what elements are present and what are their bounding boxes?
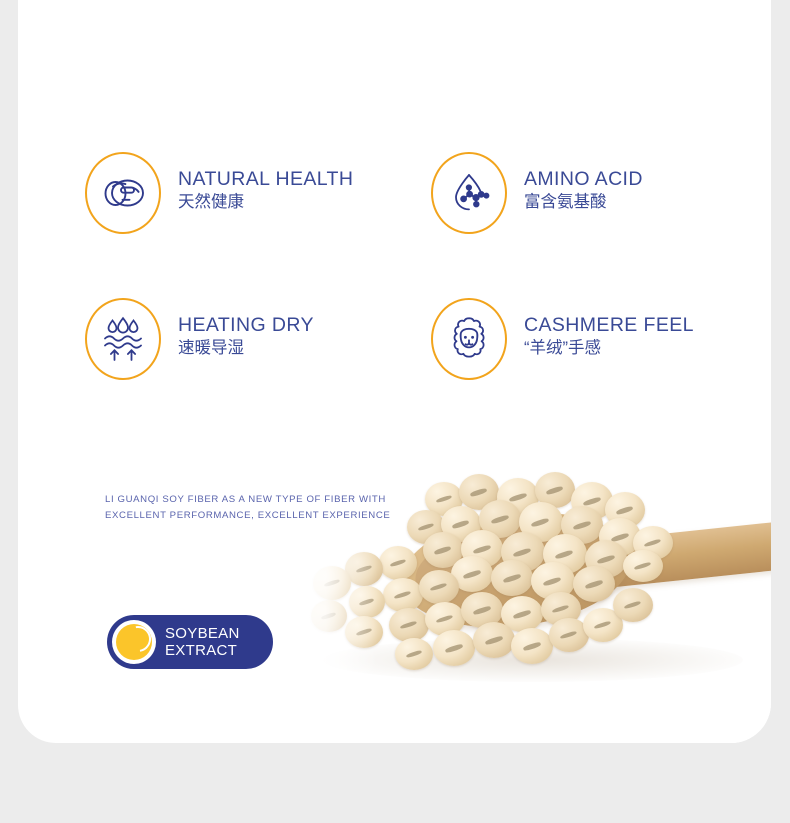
feature-subtitle: 富含氨基酸 — [524, 190, 643, 216]
soybean — [379, 546, 417, 580]
feature-item-cashmere-feel: CASHMERE FEEL “羊绒”手感 — [431, 266, 771, 412]
soybean — [491, 560, 533, 596]
soybean-dot-inner — [116, 624, 152, 660]
feature-item-amino-acid: AMINO ACID 富含氨基酸 — [431, 120, 771, 266]
photo-bottom-fade — [283, 675, 771, 743]
soybean — [613, 588, 653, 622]
feature-title: NATURAL HEALTH — [178, 168, 353, 190]
feature-grid: NATURAL HEALTH 天然健康 — [85, 120, 771, 412]
feature-text: AMINO ACID 富含氨基酸 — [524, 168, 643, 218]
soybean — [511, 628, 553, 664]
soybean-extract-badge: SOYBEAN EXTRACT — [107, 615, 273, 669]
soybean-dot-icon — [112, 620, 156, 664]
tagline-line-1: LI GUANQI SOY FIBER AS A NEW TYPE OF FIB… — [105, 492, 505, 508]
feature-title: HEATING DRY — [178, 314, 314, 336]
badge-text: SOYBEAN EXTRACT — [165, 625, 240, 659]
tagline-line-2: EXCELLENT PERFORMANCE, EXCELLENT EXPERIE… — [105, 508, 505, 524]
badge-line-1: SOYBEAN — [165, 625, 240, 642]
soybean — [623, 550, 663, 582]
soybean — [419, 570, 459, 604]
feature-subtitle: “羊绒”手感 — [524, 336, 694, 362]
soybean — [389, 608, 429, 642]
feature-title: CASHMERE FEEL — [524, 314, 694, 336]
feature-text: CASHMERE FEEL “羊绒”手感 — [524, 314, 694, 364]
soybeans-icon — [85, 152, 161, 234]
soybean — [473, 622, 515, 658]
feature-text: HEATING DRY 速暖导湿 — [178, 314, 314, 364]
feature-subtitle: 速暖导湿 — [178, 336, 314, 362]
soybean — [433, 630, 475, 666]
tagline: LI GUANQI SOY FIBER AS A NEW TYPE OF FIB… — [105, 492, 505, 524]
feature-text: NATURAL HEALTH 天然健康 — [178, 168, 353, 218]
soybean — [383, 578, 423, 612]
feature-title: AMINO ACID — [524, 168, 643, 190]
feature-subtitle: 天然健康 — [178, 190, 353, 216]
feature-item-heating-dry: HEATING DRY 速暖导湿 — [85, 266, 431, 412]
soybean — [573, 566, 615, 602]
badge-line-2: EXTRACT — [165, 642, 240, 659]
droplet-molecule-icon — [431, 152, 507, 234]
sheep-head-icon — [431, 298, 507, 380]
soybean — [395, 638, 433, 670]
droplets-waves-arrows-icon — [85, 298, 161, 380]
product-feature-card: NATURAL HEALTH 天然健康 — [18, 0, 771, 743]
feature-item-natural-health: NATURAL HEALTH 天然健康 — [85, 120, 431, 266]
